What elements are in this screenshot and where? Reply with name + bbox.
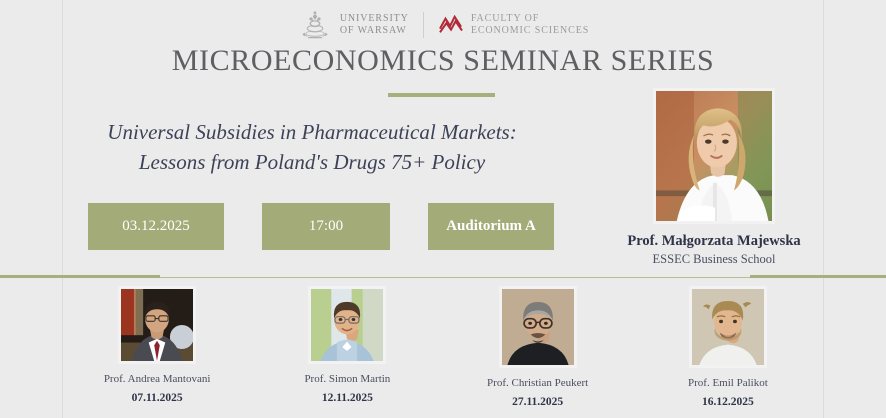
featured-speaker-name: Prof. Małgorzata Majewska: [604, 233, 824, 250]
speaker-photo: [118, 286, 196, 364]
speaker-photo: [689, 286, 767, 368]
event-details: 03.12.2025 17:00 Auditorium A: [88, 203, 554, 250]
faculty-line-2: ECONOMIC SCIENCES: [471, 25, 589, 38]
seminar-poster: UNIVERSITY OF WARSAW FACULTY OF ECONOMIC…: [0, 0, 886, 418]
faculty-zigzag-icon: [438, 14, 464, 36]
university-wordmark: UNIVERSITY OF WARSAW: [340, 13, 409, 38]
speaker-name: Prof. Simon Martin: [272, 373, 422, 385]
list-item: Prof. Simon Martin 12.11.2025: [272, 286, 422, 404]
section-divider-accent-left: [0, 275, 160, 278]
upcoming-speakers-list: Prof. Andrea Mantovani 07.11.2025: [62, 286, 823, 418]
speaker-date: 07.11.2025: [82, 392, 232, 404]
list-item: Prof. Christian Peukert 27.11.2025: [463, 286, 613, 408]
event-room-chip: Auditorium A: [428, 203, 554, 250]
title-divider: [388, 93, 495, 97]
seminar-title-line-2: Lessons from Poland's Drugs 75+ Policy: [62, 148, 562, 178]
event-time-chip: 17:00: [262, 203, 390, 250]
seminar-title-line-1: Universal Subsidies in Pharmaceutical Ma…: [62, 118, 562, 148]
list-item: Prof. Emil Palikot 16.12.2025: [653, 286, 803, 408]
university-line-1: UNIVERSITY: [340, 13, 409, 26]
faculty-line-1: FACULTY OF: [471, 13, 589, 26]
page-title: MICROECONOMICS SEMINAR SERIES: [0, 44, 886, 78]
speaker-date: 12.11.2025: [272, 392, 422, 404]
featured-speaker-photo: [653, 88, 775, 224]
university-crest-icon: [297, 10, 333, 40]
university-of-warsaw-logo: UNIVERSITY OF WARSAW: [297, 10, 409, 40]
speaker-photo: [308, 286, 386, 364]
university-line-2: OF WARSAW: [340, 25, 409, 38]
faculty-wordmark: FACULTY OF ECONOMIC SCIENCES: [471, 13, 589, 38]
featured-speaker-affiliation: ESSEC Business School: [604, 252, 824, 267]
speaker-date: 16.12.2025: [653, 396, 803, 408]
speaker-name: Prof. Emil Palikot: [653, 377, 803, 389]
seminar-title: Universal Subsidies in Pharmaceutical Ma…: [62, 118, 562, 178]
faculty-of-economic-sciences-logo: FACULTY OF ECONOMIC SCIENCES: [438, 13, 589, 38]
event-date-chip: 03.12.2025: [88, 203, 224, 250]
logo-bar: UNIVERSITY OF WARSAW FACULTY OF ECONOMIC…: [0, 9, 886, 41]
speaker-name: Prof. Christian Peukert: [463, 377, 613, 389]
logo-separator-icon: [423, 12, 424, 38]
speaker-name: Prof. Andrea Mantovani: [82, 373, 232, 385]
list-item: Prof. Andrea Mantovani 07.11.2025: [82, 286, 232, 404]
featured-speaker: Prof. Małgorzata Majewska ESSEC Business…: [604, 88, 824, 267]
section-divider-accent-right: [750, 275, 886, 278]
speaker-photo: [499, 286, 577, 368]
speaker-date: 27.11.2025: [463, 396, 613, 408]
